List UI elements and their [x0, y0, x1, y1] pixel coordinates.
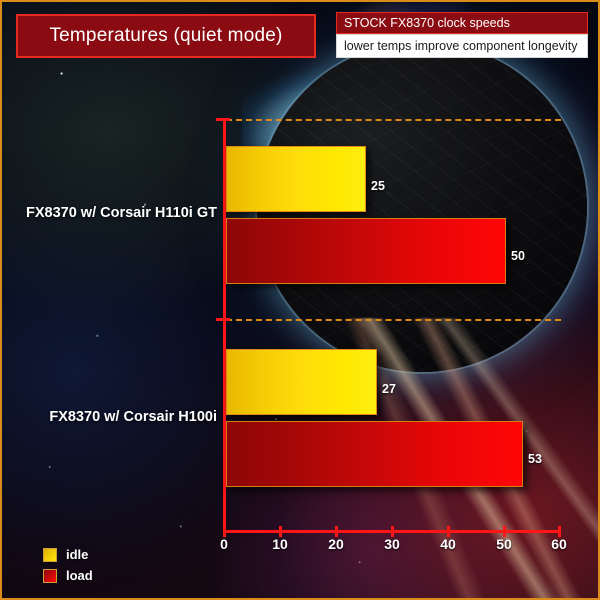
legend-label-idle: idle: [66, 547, 88, 562]
category-label-0: FX8370 w/ Corsair H110i GT: [26, 205, 217, 221]
legend-item-idle: idle: [43, 547, 88, 562]
bar-idle-1: [226, 349, 377, 415]
plot-area: 0 10 20 30 40 50 60 FX8370 w/ Corsair H1…: [2, 2, 600, 600]
bar-load-0: [226, 218, 506, 284]
bar-value-idle-0: 25: [371, 179, 385, 193]
category-label-1: FX8370 w/ Corsair H100i: [49, 409, 217, 425]
bar-value-load-0: 50: [511, 249, 525, 263]
bar-idle-0: [226, 146, 366, 212]
x-tick-label-30: 30: [384, 536, 400, 552]
y-axis-tick-middle: [216, 318, 230, 321]
legend-label-load: load: [66, 568, 93, 583]
x-tick-label-20: 20: [328, 536, 344, 552]
x-tick-label-0: 0: [220, 536, 228, 552]
bar-value-load-1: 53: [528, 452, 542, 466]
bar-load-1: [226, 421, 523, 487]
chart-container: Temperatures (quiet mode) STOCK FX8370 c…: [0, 0, 600, 600]
square-swatch-icon-idle: [43, 548, 57, 562]
y-axis-tick-top: [216, 118, 230, 121]
gridline-category-separator: [226, 319, 561, 321]
bar-value-idle-1: 27: [382, 382, 396, 396]
x-tick-label-60: 60: [551, 536, 567, 552]
legend-item-load: load: [43, 568, 93, 583]
gridline-top: [226, 119, 561, 121]
x-tick-label-10: 10: [272, 536, 288, 552]
x-tick-label-50: 50: [496, 536, 512, 552]
x-tick-label-40: 40: [440, 536, 456, 552]
square-swatch-icon-load: [43, 569, 57, 583]
